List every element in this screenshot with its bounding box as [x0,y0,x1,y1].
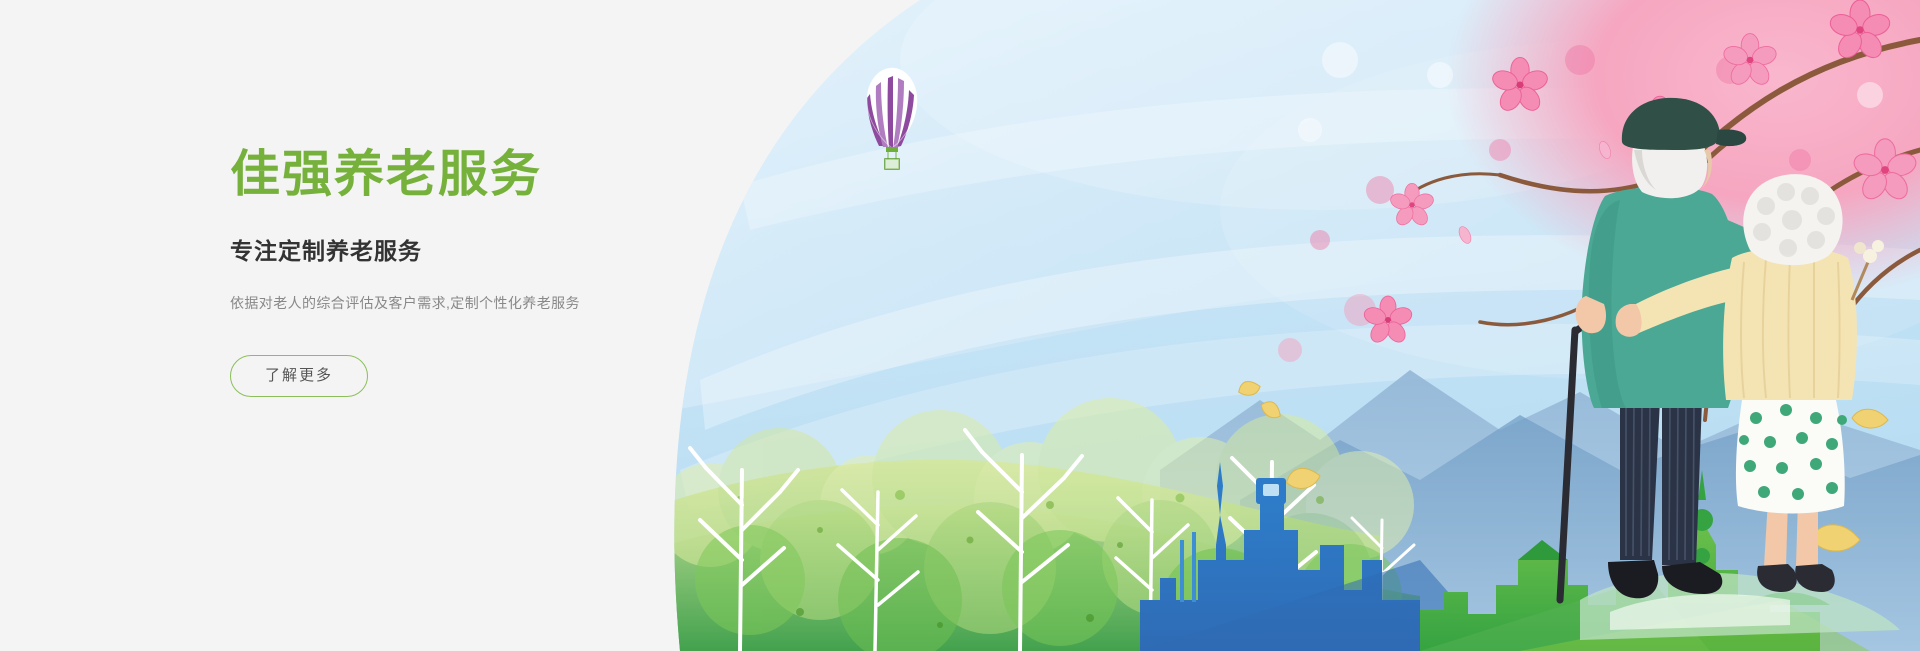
hero-copy-block: 佳强养老服务 专注定制养老服务 依据对老人的综合评估及客户需求,定制个性化养老服… [230,146,650,397]
page-title: 佳强养老服务 [230,146,650,204]
hero-subheading: 专注定制养老服务 [230,232,650,266]
man-trousers-right [1662,400,1702,565]
hero-banner: 佳强养老服务 专注定制养老服务 依据对老人的综合评估及客户需求,定制个性化养老服… [0,0,1920,651]
illustration-elderly-couple-spring-landscape [620,0,1920,651]
hero-description: 依据对老人的综合评估及客户需求,定制个性化养老服务 [230,293,650,313]
learn-more-button[interactable]: 了解更多 [230,355,368,397]
